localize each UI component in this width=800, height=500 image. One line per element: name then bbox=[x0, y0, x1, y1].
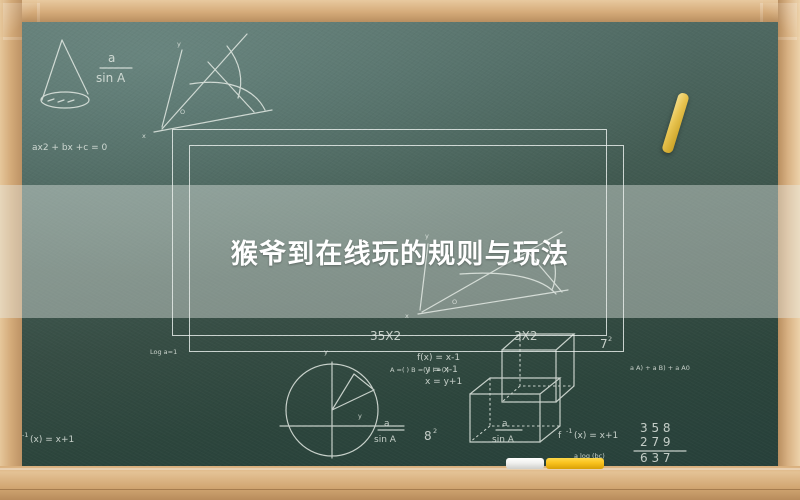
ledge-shadow-line bbox=[0, 489, 800, 490]
svg-text:a: a bbox=[502, 419, 508, 429]
svg-text:a: a bbox=[384, 419, 390, 429]
cone-diagram bbox=[41, 40, 89, 108]
svg-text:2 7 9: 2 7 9 bbox=[640, 435, 671, 449]
svg-text:(x) = x+1: (x) = x+1 bbox=[574, 431, 618, 441]
axis-y-label: y bbox=[177, 40, 181, 48]
white-chalk-stick bbox=[506, 458, 544, 469]
matrix-row-notation: A =( ) B =( ) I =( ) bbox=[390, 366, 449, 374]
svg-text:8: 8 bbox=[424, 429, 432, 443]
yellow-chalk-stick bbox=[546, 458, 604, 469]
svg-text:sin A: sin A bbox=[492, 435, 515, 445]
page-title: 猴爷到在线玩的规则与玩法 bbox=[0, 185, 800, 318]
svg-text:x = y+1: x = y+1 bbox=[425, 377, 462, 387]
svg-text:3 5 8: 3 5 8 bbox=[640, 421, 671, 435]
angle-o-label: O bbox=[180, 108, 185, 116]
quadratic-equation: ax2 + bx +c = 0 bbox=[32, 143, 107, 153]
svg-text:sin A: sin A bbox=[96, 71, 126, 85]
axis-x-label: x bbox=[142, 132, 146, 140]
svg-text:sin A: sin A bbox=[374, 435, 397, 445]
svg-text:(x) = x+1: (x) = x+1 bbox=[30, 435, 74, 445]
coordinate-axes: y x bbox=[142, 40, 272, 140]
law-of-sines-fraction-bottomleft: a sin A bbox=[374, 419, 404, 445]
svg-text:y: y bbox=[358, 412, 362, 420]
svg-text:6 3 7: 6 3 7 bbox=[640, 451, 671, 465]
svg-text:-1: -1 bbox=[566, 427, 572, 435]
eight-squared: 8 2 bbox=[424, 427, 437, 443]
frame-top-rail bbox=[0, 0, 800, 22]
law-of-sines-fraction-center: a sin A bbox=[492, 419, 522, 445]
svg-text:-1: -1 bbox=[22, 431, 28, 439]
svg-text:f(x) = x-1: f(x) = x-1 bbox=[417, 353, 460, 363]
inverse-function-expression-right: f -1 (x) = x+1 bbox=[558, 427, 618, 441]
svg-text:2: 2 bbox=[433, 427, 437, 435]
inverse-function-expression: f -1 (x) = x+1 bbox=[22, 431, 74, 445]
chalkboard-banner: a sin A ax2 + bx +c = 0 y x O bbox=[0, 0, 800, 500]
column-addition: 3 5 8 2 7 9 6 3 7 bbox=[634, 421, 686, 465]
matrix-expression-small: a A) + a B) + a A0 bbox=[630, 364, 690, 372]
ledge-highlight bbox=[0, 468, 800, 470]
log-small-label: Log a=1 bbox=[150, 348, 177, 356]
svg-text:f: f bbox=[558, 431, 562, 441]
law-of-sines-fraction-topleft: a sin A bbox=[96, 51, 132, 85]
frame-bottom-ledge bbox=[0, 466, 800, 500]
svg-text:a: a bbox=[108, 51, 115, 65]
cube-wireframe-right bbox=[470, 378, 560, 442]
